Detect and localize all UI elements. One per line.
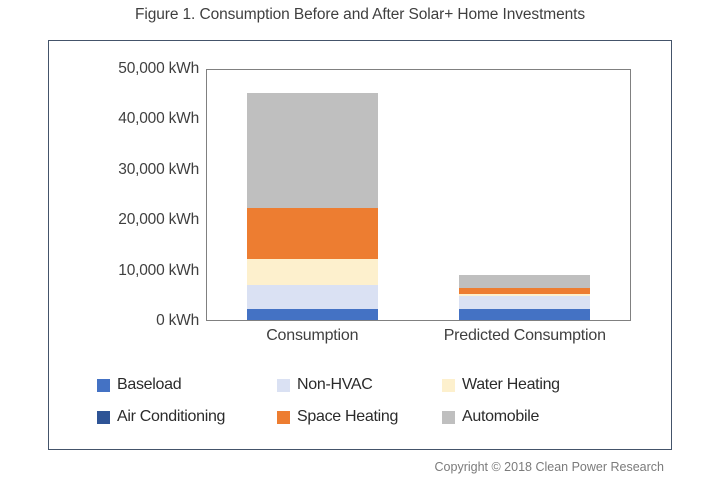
- figure-title: Figure 1. Consumption Before and After S…: [0, 6, 720, 24]
- bar-segment-water-heating[interactable]: [247, 259, 378, 286]
- legend-swatch-icon: [277, 411, 290, 424]
- y-axis-tick-label: 30,000 kWh: [51, 161, 199, 179]
- bar-segment-non-hvac[interactable]: [459, 296, 590, 309]
- copyright-notice: Copyright © 2018 Clean Power Research: [435, 460, 664, 474]
- plot-inner: [207, 70, 630, 320]
- legend-swatch-icon: [442, 379, 455, 392]
- bar-segment-automobile[interactable]: [459, 275, 590, 288]
- legend-item-non-hvac[interactable]: Non-HVAC: [277, 376, 442, 394]
- stacked-bar[interactable]: [247, 93, 378, 320]
- stacked-bar[interactable]: [459, 275, 590, 320]
- legend-item-baseload[interactable]: Baseload: [97, 376, 277, 394]
- legend-item-space-heating[interactable]: Space Heating: [277, 408, 442, 426]
- y-axis-tick-label: 10,000 kWh: [51, 262, 199, 280]
- plot-wrap: 0 kWh10,000 kWh20,000 kWh30,000 kWh40,00…: [49, 41, 673, 341]
- legend-label: Space Heating: [297, 408, 398, 426]
- legend-label: Air Conditioning: [117, 408, 225, 426]
- y-axis-tick-label: 40,000 kWh: [51, 110, 199, 128]
- y-axis: 0 kWh10,000 kWh20,000 kWh30,000 kWh40,00…: [49, 41, 199, 341]
- legend-swatch-icon: [97, 411, 110, 424]
- x-axis-labels: ConsumptionPredicted Consumption: [206, 323, 631, 357]
- y-axis-tick-label: 20,000 kWh: [51, 211, 199, 229]
- bar-segment-non-hvac[interactable]: [247, 285, 378, 309]
- legend-item-air-conditioning[interactable]: Air Conditioning: [97, 408, 277, 426]
- legend-swatch-icon: [97, 379, 110, 392]
- legend-swatch-icon: [442, 411, 455, 424]
- x-axis-category-label: Predicted Consumption: [419, 327, 632, 345]
- bar-segment-space-heating[interactable]: [247, 208, 378, 258]
- chart-card: 0 kWh10,000 kWh20,000 kWh30,000 kWh40,00…: [48, 40, 672, 450]
- bar-group[interactable]: [459, 70, 590, 320]
- legend-label: Water Heating: [462, 376, 560, 394]
- legend-item-water-heating[interactable]: Water Heating: [442, 376, 642, 394]
- chart-legend: BaseloadNon-HVACWater HeatingAir Conditi…: [97, 369, 657, 433]
- legend-label: Non-HVAC: [297, 376, 373, 394]
- bar-group[interactable]: [247, 70, 378, 320]
- legend-label: Automobile: [462, 408, 539, 426]
- y-axis-tick-label: 0 kWh: [51, 312, 199, 330]
- plot-area: [206, 69, 631, 321]
- legend-swatch-icon: [277, 379, 290, 392]
- y-axis-tick-label: 50,000 kWh: [51, 60, 199, 78]
- x-axis-category-label: Consumption: [206, 327, 419, 345]
- bar-segment-baseload[interactable]: [247, 309, 378, 320]
- bar-segment-baseload[interactable]: [459, 309, 590, 320]
- bar-segment-automobile[interactable]: [247, 93, 378, 208]
- legend-label: Baseload: [117, 376, 181, 394]
- legend-item-automobile[interactable]: Automobile: [442, 408, 642, 426]
